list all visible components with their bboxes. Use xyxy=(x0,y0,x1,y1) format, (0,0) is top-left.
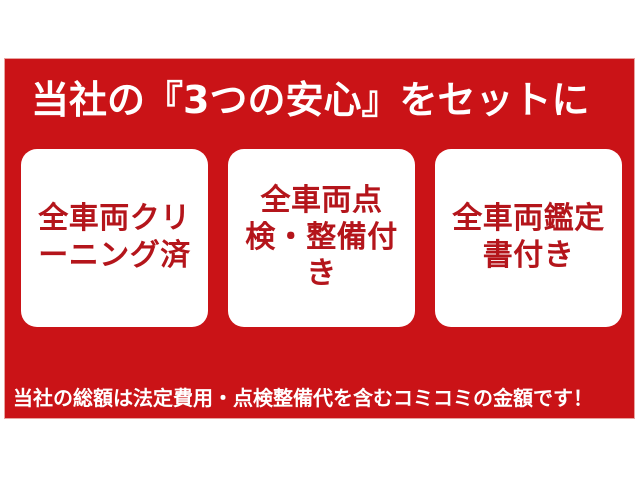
assurance-card-label: 全車両クリーニング済 xyxy=(27,201,202,274)
assurance-card-label: 全車両点検・整備付き xyxy=(234,183,409,293)
assurance-card-cleaning: 全車両クリーニング済 xyxy=(21,149,208,327)
assurance-card-list: 全車両クリーニング済 全車両点検・整備付き 全車両鑑定書付き xyxy=(21,149,622,327)
assurance-card-label: 全車両鑑定書付き xyxy=(441,201,616,274)
page-title: 当社の『3つの安心』をセットに xyxy=(31,71,621,129)
pricing-disclaimer: 当社の総額は法定費用・点検整備代を含むコミコミの金額です！ xyxy=(13,381,628,415)
assurance-card-inspection: 全車両点検・整備付き xyxy=(228,149,415,327)
assurance-card-appraisal: 全車両鑑定書付き xyxy=(435,149,622,327)
promo-banner: 当社の『3つの安心』をセットに 全車両クリーニング済 全車両点検・整備付き 全車… xyxy=(4,58,635,419)
